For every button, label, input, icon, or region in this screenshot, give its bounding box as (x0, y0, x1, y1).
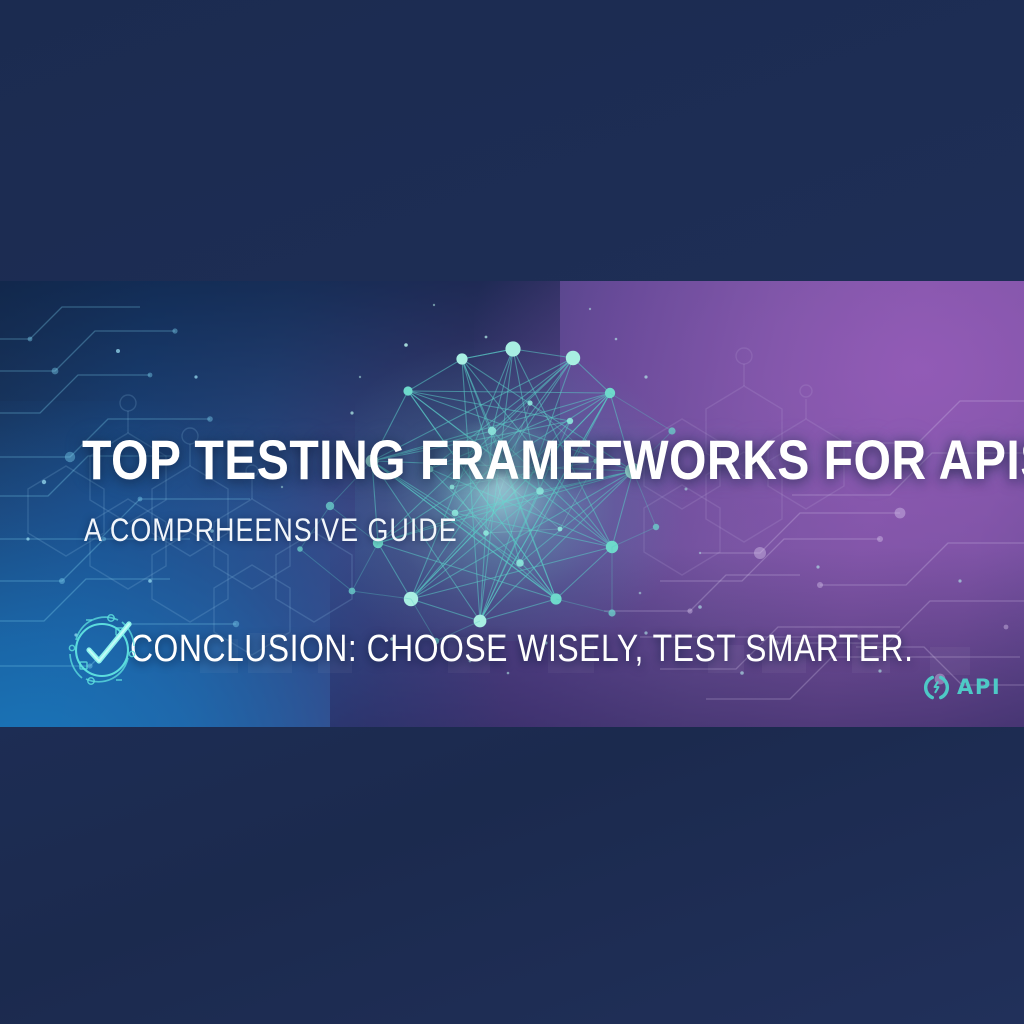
api-sync-icon (923, 674, 950, 701)
page-subtitle: A COMPRHEENSIVE GUIDE (84, 512, 458, 548)
network-glow (355, 341, 685, 641)
conclusion-text: CONCLUSION: CHOOSE WISELY, TEST SMARTER. (130, 628, 913, 670)
api-logo[interactable]: API (923, 672, 1001, 702)
api-logo-text: API (957, 677, 1001, 698)
canvas: TOP TESTING FRAMEFWORKS FOR APIS A COMPR… (0, 0, 1024, 1024)
check-circle-icon (56, 604, 148, 696)
page-title: TOP TESTING FRAMEFWORKS FOR APIS (82, 429, 1024, 491)
